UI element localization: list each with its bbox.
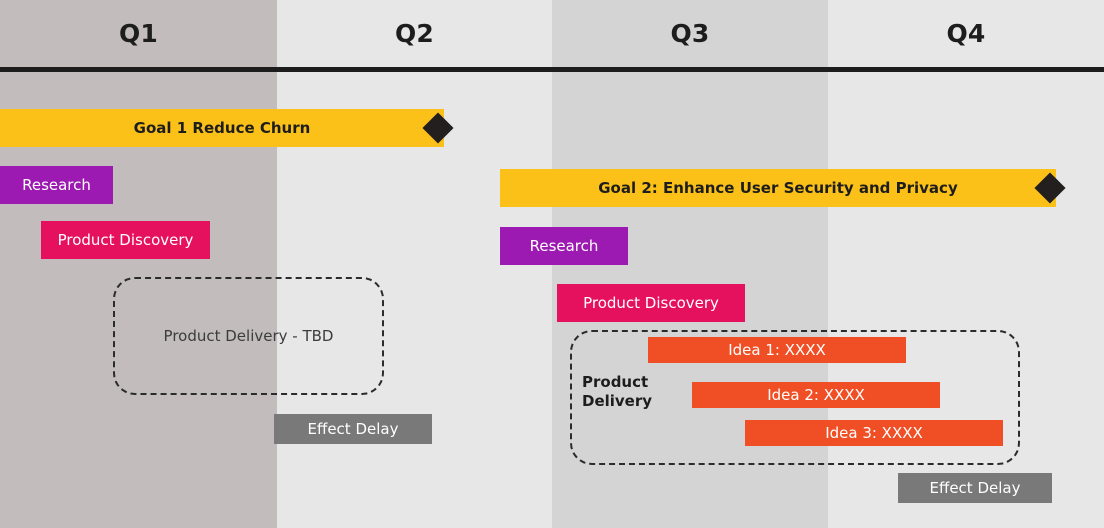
goal2-idea-2-bar[interactable]: Idea 2: XXXX: [692, 382, 940, 408]
goal2-bar[interactable]: Goal 2: Enhance User Security and Privac…: [500, 169, 1056, 207]
goal2-product-delivery-label-line1: Product: [582, 373, 652, 392]
goal1-effect-delay-bar[interactable]: Effect Delay: [274, 414, 432, 444]
goal2-research-bar[interactable]: Research: [500, 227, 628, 265]
quarter-header-q2: Q2: [277, 0, 552, 67]
roadmap-diagram: Q1 Q2 Q3 Q4 Goal 1 Reduce Churn Research…: [0, 0, 1104, 528]
goal1-bar[interactable]: Goal 1 Reduce Churn: [0, 109, 444, 147]
quarter-header-q4: Q4: [828, 0, 1104, 67]
quarter-header-q1: Q1: [0, 0, 277, 67]
goal2-product-delivery-label: Product Delivery: [582, 373, 652, 411]
goal2-product-discovery-label: Product Discovery: [557, 294, 745, 312]
goal1-product-discovery-bar[interactable]: Product Discovery: [41, 221, 210, 259]
goal1-product-discovery-label: Product Discovery: [41, 231, 210, 249]
goal2-effect-delay-bar[interactable]: Effect Delay: [898, 473, 1052, 503]
goal1-label: Goal 1 Reduce Churn: [0, 119, 444, 137]
goal1-product-delivery-label: Product Delivery - TBD: [164, 327, 334, 345]
goal2-product-discovery-bar[interactable]: Product Discovery: [557, 284, 745, 322]
goal1-product-delivery-box[interactable]: Product Delivery - TBD: [113, 277, 384, 395]
goal2-idea-3-bar[interactable]: Idea 3: XXXX: [745, 420, 1003, 446]
quarter-header-q3: Q3: [552, 0, 828, 67]
goal2-effect-delay-label: Effect Delay: [898, 479, 1052, 497]
goal2-idea-2-label: Idea 2: XXXX: [692, 386, 940, 404]
goal2-research-label: Research: [500, 237, 628, 255]
goal1-research-label: Research: [0, 176, 113, 194]
goal2-idea-1-label: Idea 1: XXXX: [648, 341, 906, 359]
goal2-idea-3-label: Idea 3: XXXX: [745, 424, 1003, 442]
header-divider-rule: [0, 67, 1104, 72]
quarter-column-q1: [0, 0, 277, 528]
goal2-idea-1-bar[interactable]: Idea 1: XXXX: [648, 337, 906, 363]
goal2-product-delivery-label-line2: Delivery: [582, 392, 652, 411]
goal1-effect-delay-label: Effect Delay: [274, 420, 432, 438]
goal1-research-bar[interactable]: Research: [0, 166, 113, 204]
goal2-label: Goal 2: Enhance User Security and Privac…: [500, 179, 1056, 197]
